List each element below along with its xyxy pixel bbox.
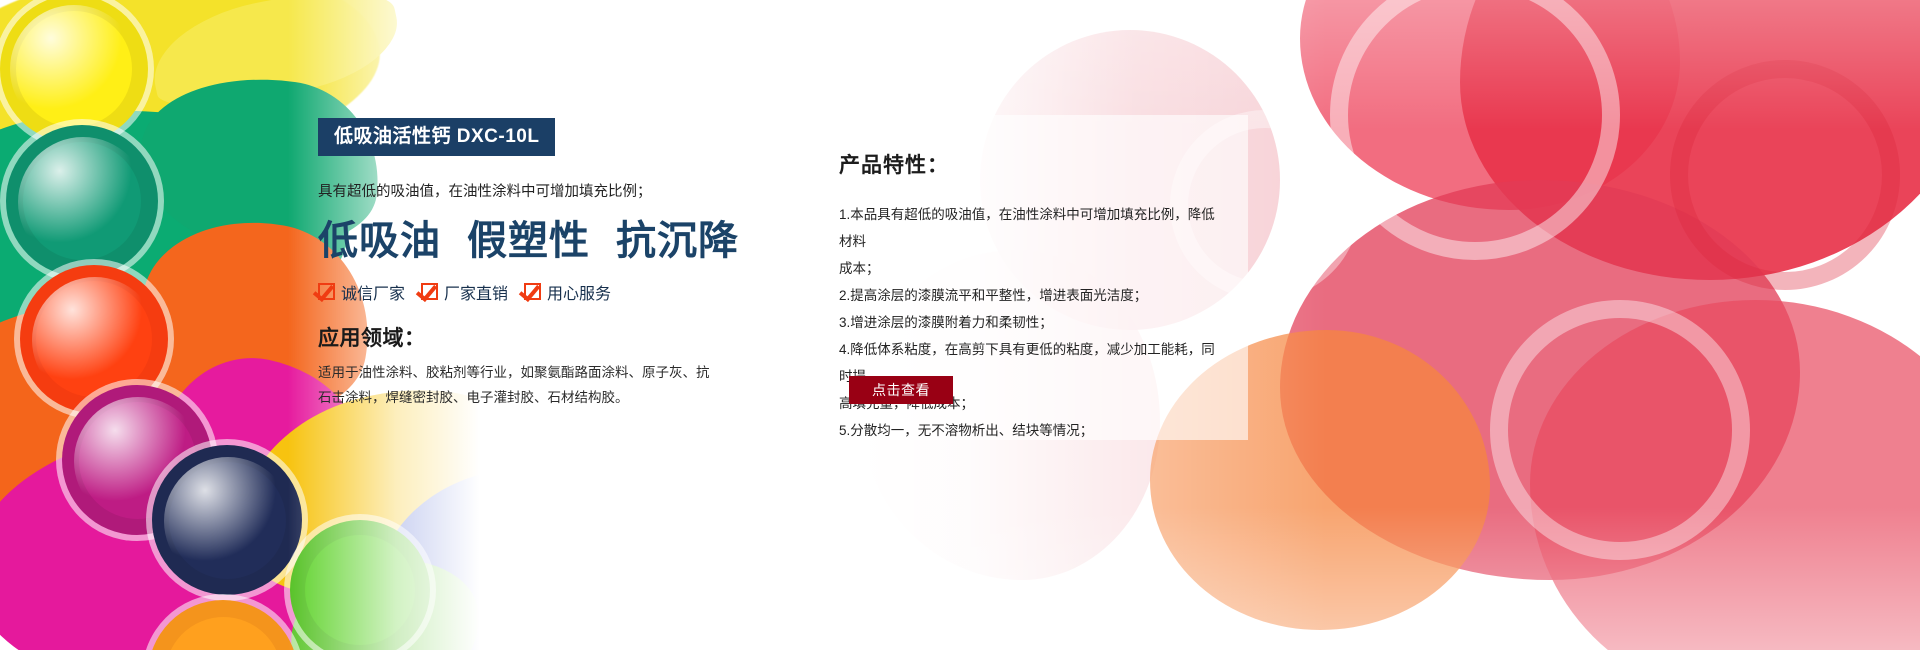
product-keywords: 低吸油假塑性抗沉降: [318, 218, 748, 264]
paint-ring: [1490, 300, 1750, 560]
product-banner: 低吸油活性钙 DXC-10L 具有超低的吸油值，在油性涂料中可增加填充比例； 低…: [0, 0, 1920, 650]
product-title-badge: 低吸油活性钙 DXC-10L: [318, 118, 555, 156]
paint-can-gloss: [74, 397, 202, 525]
trust-badges: 诚信厂家 厂家直销 用心服务: [318, 280, 748, 304]
lime-paint-stroke: [281, 547, 489, 650]
keyword-1: 低吸油: [318, 219, 441, 263]
feature-line: 1.本品具有超低的吸油值，在油性涂料中可增加填充比例，降低材料: [839, 201, 1218, 255]
green-paint-stroke: [0, 94, 358, 386]
checkbox-check-icon: [524, 283, 541, 300]
paint-can-gloss: [18, 137, 148, 267]
orange-paint-stroke: [0, 289, 336, 561]
trust-badge-label: 诚信厂家: [341, 280, 405, 304]
features-panel-heading: 产品特性：: [839, 149, 1218, 179]
paint-can-lime: [290, 520, 430, 650]
left-content-block: 低吸油活性钙 DXC-10L 具有超低的吸油值，在油性涂料中可增加填充比例； 低…: [318, 118, 748, 411]
rose-paint-blob: [1530, 300, 1920, 650]
blue-paint-stroke: [353, 437, 600, 650]
paint-can-navy: [152, 445, 302, 595]
paint-can-purple: [62, 385, 212, 535]
paint-can-gloss: [164, 457, 292, 585]
feature-line: 5.分散均一，无不溶物析出、结块等情况；: [839, 417, 1218, 444]
light-red-blob: [1300, 0, 1680, 210]
paint-can-gloss: [10, 5, 138, 133]
view-details-button[interactable]: 点击查看: [849, 376, 953, 404]
paint-can-gloss: [32, 277, 158, 403]
application-section-heading: 应用领域：: [318, 322, 748, 352]
trust-badge-2: 厂家直销: [421, 280, 508, 304]
trust-badge-1: 诚信厂家: [318, 280, 405, 304]
trust-badge-label: 用心服务: [547, 280, 611, 304]
checkbox-check-icon: [421, 283, 438, 300]
features-list: 1.本品具有超低的吸油值，在油性涂料中可增加填充比例，降低材料 成本； 2.提高…: [839, 201, 1218, 444]
keyword-2: 假塑性: [467, 219, 590, 263]
crimson-paint-blob: [1280, 180, 1800, 580]
paint-can-green: [6, 125, 158, 277]
paint-can-orange: [148, 600, 298, 650]
trust-badge-3: 用心服务: [524, 280, 611, 304]
trust-badge-label: 厂家直销: [444, 280, 508, 304]
yellow-paint-stroke-secondary: [143, 0, 407, 120]
product-subline: 具有超低的吸油值，在油性涂料中可增加填充比例；: [318, 182, 748, 204]
paint-ring: [1670, 60, 1900, 290]
feature-line: 3.增进涂层的漆膜附着力和柔韧性；: [839, 309, 1218, 336]
feature-line: 成本；: [839, 255, 1218, 282]
paint-ring: [1330, 0, 1620, 260]
feature-line: 2.提高涂层的漆膜流平和平整性，增进表面光洁度；: [839, 282, 1218, 309]
red-paint-blob: [1460, 0, 1920, 280]
application-section-body: 适用于油性涂料、胶粘剂等行业，如聚氨酯路面涂料、原子灰、抗石击涂料，焊缝密封胶、…: [318, 361, 718, 411]
keyword-3: 抗沉降: [616, 219, 739, 263]
paint-can-yellow: [0, 0, 148, 143]
checkbox-check-icon: [318, 283, 335, 300]
paint-can-red: [20, 265, 168, 413]
magenta-paint-stroke: [0, 413, 381, 650]
